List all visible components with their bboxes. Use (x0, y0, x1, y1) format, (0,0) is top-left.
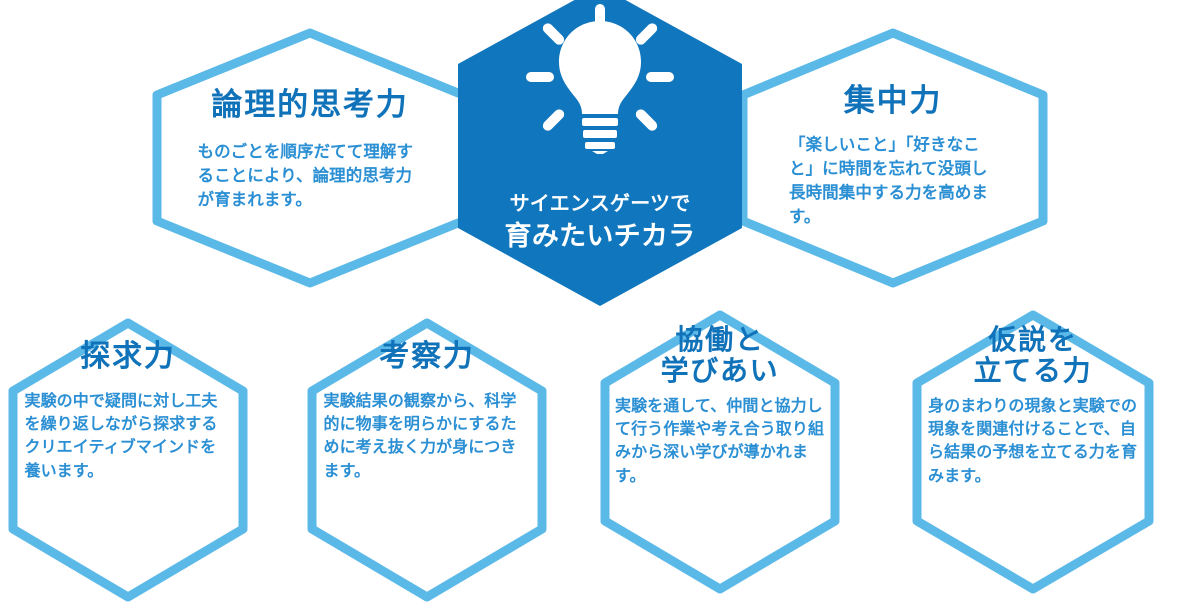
hexagon-card-collaboration: 協働と 学びあい 実験を通して、仲間と協力して行う作業や考え合う取り組みから深い… (600, 310, 840, 594)
hexagon-title-collaboration: 協働と 学びあい (661, 324, 780, 387)
hexagon-card-analysis: 考察力 実験結果の観察から、科学的に物事を明らかにするために考え抜く力が身につき… (307, 318, 547, 602)
hexagon-card-hypothesis: 仮説を 立てる力 身のまわりの現象と実験での現象を関連付けることで、自ら結果の予… (912, 310, 1154, 594)
hexagon-card-focus: 集中力 「楽しいこと」「好きなこと」に時間を忘れて没頭し長時間集中する力を高めま… (738, 28, 1048, 288)
hexagon-card-logic: 論理的思考力 ものごとを順序だてて理解することにより、論理的思考力が育まれます。 (152, 28, 468, 288)
hexagon-card-inquiry: 探求力 実験の中で疑問に対し工夫を繰り返しながら探求するクリエイティブマインドを… (8, 318, 248, 602)
infographic-canvas: 論理的思考力 ものごとを順序だてて理解することにより、論理的思考力が育まれます。… (0, 0, 1200, 611)
hexagon-title-logic: 論理的思考力 (211, 88, 408, 123)
hexagon-body-analysis: 実験結果の観察から、科学的に物事を明らかにするために考え抜く力が身につきます。 (324, 390, 531, 483)
hexagon-body-logic: ものごとを順序だてて理解することにより、論理的思考力が育まれます。 (198, 140, 423, 212)
hexagon-body-focus: 「楽しいこと」「好きなこと」に時間を忘れて没頭し長時間集中する力を高めます。 (789, 133, 997, 229)
hexagon-body-collaboration: 実験を通して、仲間と協力して行う作業や考え合う取り組みから深い学びが導かれます。 (615, 395, 825, 488)
hexagon-body-inquiry: 実験の中で疑問に対し工夫を繰り返しながら探求するクリエイティブマインドを養います… (25, 390, 232, 483)
hexagon-title-analysis: 考察力 (379, 340, 474, 374)
hexagon-body-hypothesis: 身のまわりの現象と実験での現象を関連付けることで、自ら結果の予想を立てる力を育み… (928, 395, 1138, 488)
hexagon-title-inquiry: 探求力 (80, 340, 175, 374)
hexagon-card-center: サイエンスゲーツで 育みたいチカラ (458, 0, 742, 306)
center-label-line2: 育みたいチカラ (505, 220, 696, 254)
center-label-line1: サイエンスゲーツで (510, 192, 691, 216)
hexagon-title-hypothesis: 仮説を 立てる力 (974, 324, 1093, 387)
hexagon-title-focus: 集中力 (844, 84, 943, 119)
